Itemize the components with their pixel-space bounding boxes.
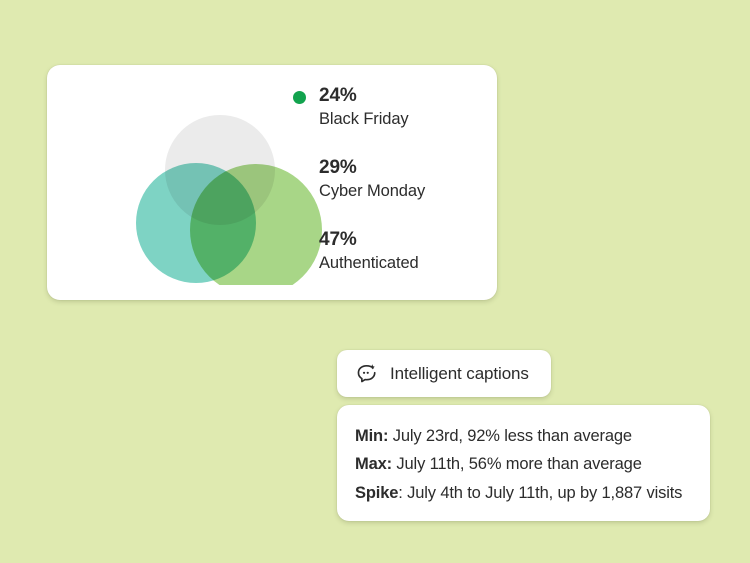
legend-item-authenticated[interactable]: 47% Authenticated <box>319 227 489 274</box>
legend-label: Cyber Monday <box>319 181 489 202</box>
caption-lead-min: Min: <box>355 427 388 445</box>
caption-text-max: July 11th, 56% more than average <box>392 455 642 473</box>
caption-text-min: July 23rd, 92% less than average <box>388 427 632 445</box>
caption-line-max: Max: July 11th, 56% more than average <box>355 450 692 478</box>
caption-line-min: Min: July 23rd, 92% less than average <box>355 422 692 450</box>
caption-line-spike: Spike: July 4th to July 11th, up by 1,88… <box>355 479 692 507</box>
caption-lead-spike: Spike <box>355 484 398 502</box>
ai-caption-bubble-icon <box>355 363 377 385</box>
legend-percent: 24% <box>319 83 489 109</box>
legend-dot-icon <box>293 91 306 104</box>
legend-percent: 29% <box>319 155 489 181</box>
legend-label: Authenticated <box>319 253 489 274</box>
legend-item-cyber-monday[interactable]: 29% Cyber Monday <box>319 155 489 202</box>
venn-diagram <box>85 85 325 285</box>
legend-label: Black Friday <box>319 109 489 130</box>
legend: 24% Black Friday 29% Cyber Monday 47% Au… <box>319 83 489 274</box>
intelligent-captions-label: Intelligent captions <box>390 364 529 384</box>
legend-item-black-friday[interactable]: 24% Black Friday <box>319 83 489 130</box>
caption-lead-max: Max: <box>355 455 392 473</box>
captions-detail-card: Min: July 23rd, 92% less than average Ma… <box>337 405 710 521</box>
stats-card: 24% Black Friday 29% Cyber Monday 47% Au… <box>47 65 497 300</box>
intelligent-captions-button[interactable]: Intelligent captions <box>337 350 551 397</box>
caption-text-spike: : July 4th to July 11th, up by 1,887 vis… <box>398 484 682 502</box>
legend-percent: 47% <box>319 227 489 253</box>
